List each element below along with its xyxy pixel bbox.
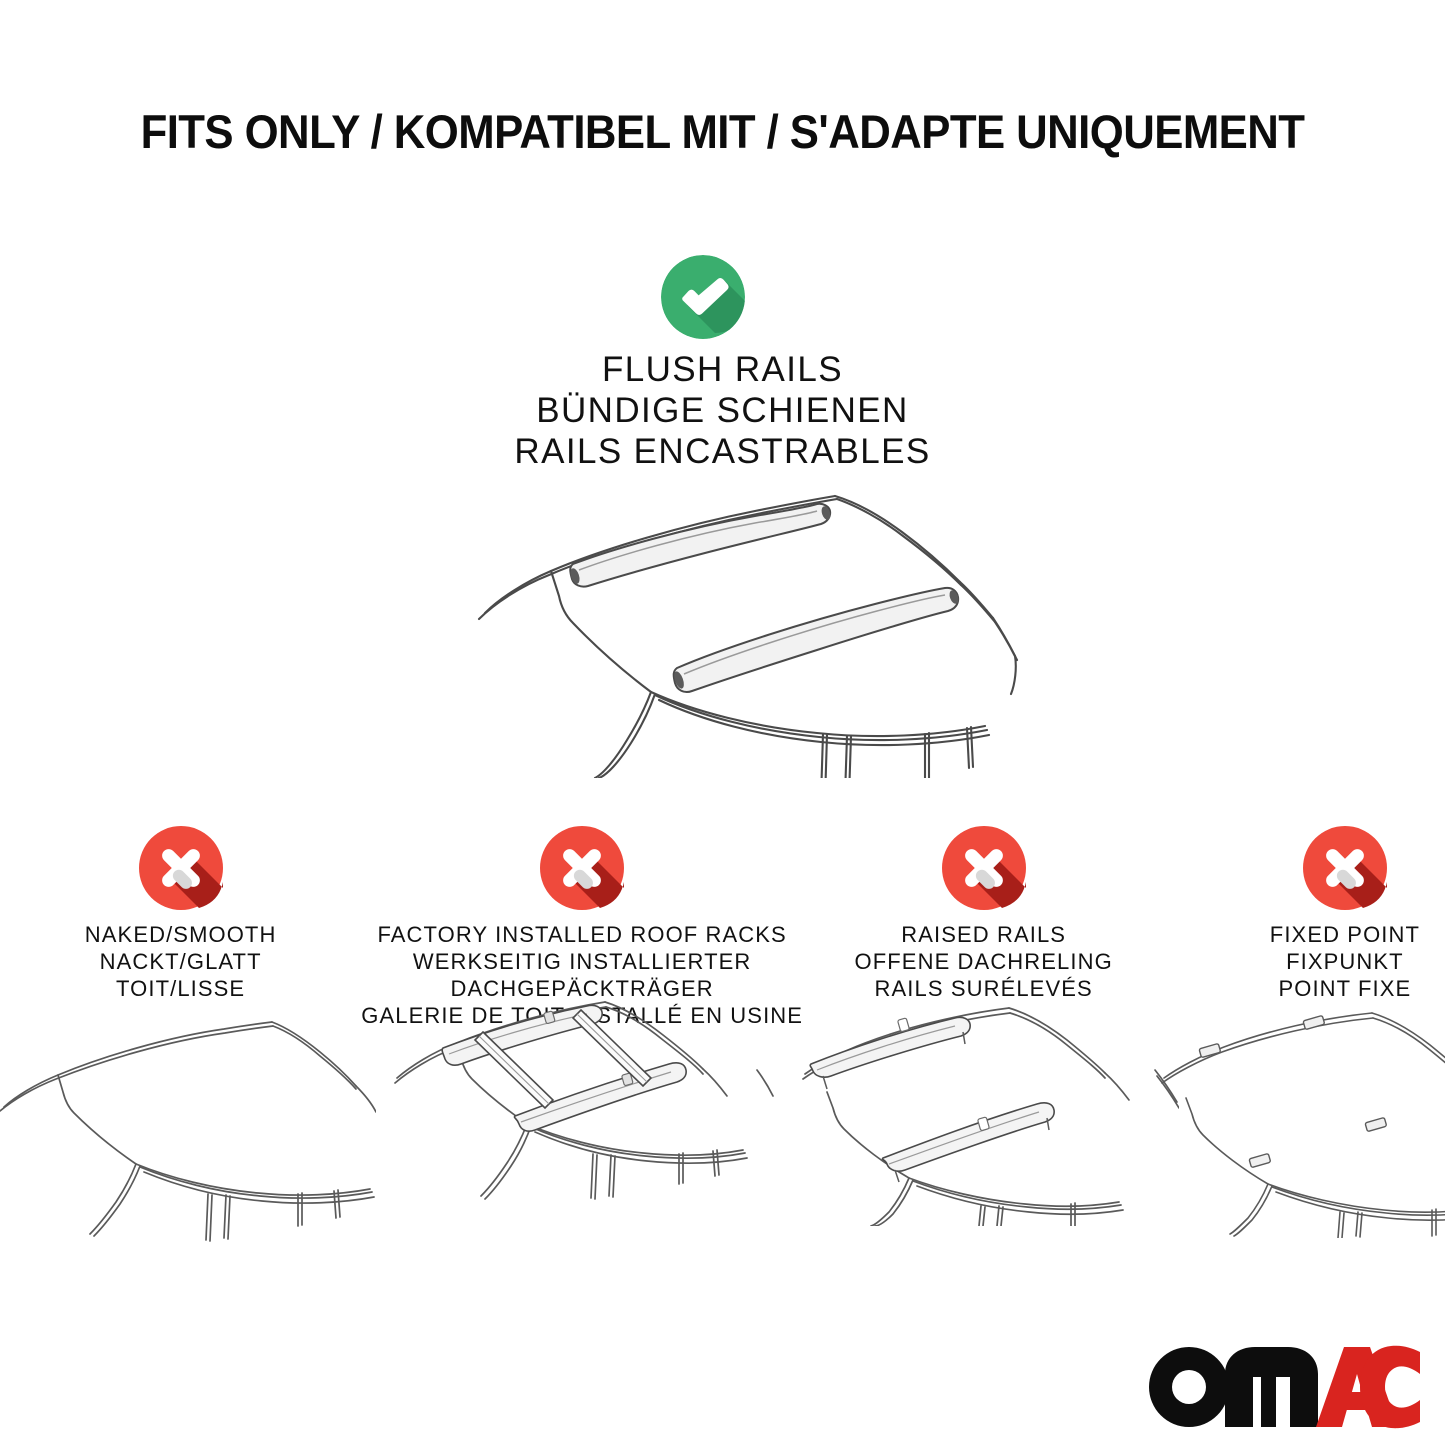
label-line-2: NACKT/GLATT — [85, 948, 277, 975]
incompatible-label-fixed-point: FIXED POINT FIXPUNKT POINT FIXE — [1270, 921, 1420, 1002]
label-line-3: TOIT/LISSE — [85, 975, 277, 1002]
incompatible-item-fixed-point: FIXED POINT FIXPUNKT POINT FIXE — [1164, 826, 1445, 1266]
compatible-label-line-3: RAILS ENCASTRABLES — [0, 431, 1445, 472]
incompatible-item-factory-installed-roof-racks: FACTORY INSTALLED ROOF RACKS WERKSEITIG … — [361, 826, 803, 1266]
car-roof-with-flush-rails-illustration — [455, 478, 1035, 778]
label-line-1: FIXED POINT — [1270, 921, 1420, 948]
incompatible-label-raised-rails: RAISED RAILS OFFENE DACHRELING RAILS SUR… — [855, 921, 1113, 1002]
compatible-label-line-1: FLUSH RAILS — [0, 349, 1445, 390]
label-line-2: OFFENE DACHRELING — [855, 948, 1113, 975]
incompatible-item-raised-rails: RAISED RAILS OFFENE DACHRELING RAILS SUR… — [803, 826, 1164, 1266]
label-line-2: WERKSEITIG INSTALLIERTER — [361, 948, 803, 975]
red-x-circle-icon — [1303, 826, 1387, 910]
car-roof-with-crossbars-illustration — [387, 988, 777, 1218]
red-x-circle-icon — [139, 826, 223, 910]
omac-logo — [1148, 1344, 1420, 1430]
label-line-3: POINT FIXE — [1270, 975, 1420, 1002]
green-check-circle-icon — [661, 255, 745, 339]
incompatible-columns: NAKED/SMOOTH NACKT/GLATT TOIT/LISSE — [0, 826, 1445, 1266]
red-x-circle-icon — [942, 826, 1026, 910]
page-title: FITS ONLY / KOMPATIBEL MIT / S'ADAPTE UN… — [51, 104, 1395, 159]
compatible-label: FLUSH RAILS BÜNDIGE SCHIENEN RAILS ENCAS… — [0, 349, 1445, 472]
red-x-circle-icon — [540, 826, 624, 910]
incompatible-label-naked-smooth: NAKED/SMOOTH NACKT/GLATT TOIT/LISSE — [85, 921, 277, 1002]
car-roof-bare-illustration — [0, 1012, 376, 1242]
compatibility-infographic: FITS ONLY / KOMPATIBEL MIT / S'ADAPTE UN… — [0, 0, 1445, 1445]
car-roof-with-raised-rails-illustration — [789, 996, 1179, 1226]
label-line-1: NAKED/SMOOTH — [85, 921, 277, 948]
compatible-label-line-2: BÜNDIGE SCHIENEN — [0, 390, 1445, 431]
label-line-1: RAISED RAILS — [855, 921, 1113, 948]
incompatible-item-naked-smooth: NAKED/SMOOTH NACKT/GLATT TOIT/LISSE — [0, 826, 361, 1266]
label-line-2: FIXPUNKT — [1270, 948, 1420, 975]
label-line-1: FACTORY INSTALLED ROOF RACKS — [361, 921, 803, 948]
car-roof-with-fixed-points-illustration — [1150, 1008, 1445, 1238]
